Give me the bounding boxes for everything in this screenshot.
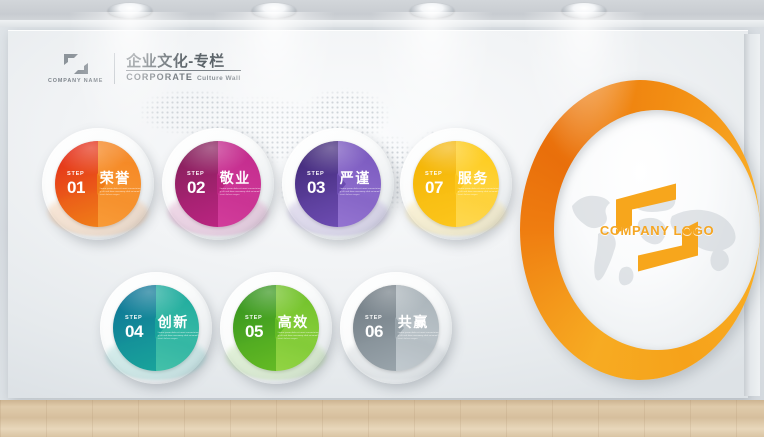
step-label-cn: 严谨 (340, 171, 371, 185)
step-word-label: STEP (187, 172, 204, 178)
step-word-label: STEP (307, 172, 324, 178)
header-titles: 企业文化-专栏 CORPORATE Culture Wall (126, 54, 240, 83)
step-circle-reflection (346, 330, 446, 380)
step-label-cn: 高效 (278, 315, 309, 329)
step-word-label: STEP (125, 316, 142, 322)
step-label-cn: 共赢 (398, 315, 429, 329)
bracket-logo-icon (61, 52, 91, 76)
step-circle-reflection (106, 330, 206, 380)
page-title-en-sub: Culture Wall (197, 75, 241, 82)
logo-center: COMPANY LOGO (554, 110, 760, 350)
header: COMPANY NAME 企业文化-专栏 CORPORATE Culture W… (48, 52, 241, 84)
step-circle-reflection (168, 186, 268, 236)
step-circle-reflection (288, 186, 388, 236)
page-title-en: CORPORATE Culture Wall (126, 72, 240, 82)
ceiling-spotlight-4 (562, 3, 606, 18)
step-label-cn: 创新 (158, 315, 189, 329)
company-logo-label: COMPANY LOGO (600, 223, 714, 238)
header-divider (114, 53, 115, 84)
step-word-label: STEP (67, 172, 84, 178)
company-logo-zone: COMPANY LOGO (520, 80, 760, 380)
company-name-block: COMPANY NAME (48, 52, 103, 84)
ceiling-spotlight-1 (108, 3, 152, 18)
step-circle-reflection (226, 330, 326, 380)
step-word-label: STEP (425, 172, 442, 178)
step-label-cn: 敬业 (220, 171, 251, 185)
culture-wall-scene: COMPANY NAME 企业文化-专栏 CORPORATE Culture W… (0, 0, 764, 437)
ceiling-spotlight-2 (252, 3, 296, 18)
ceiling-spotlight-3 (410, 3, 454, 18)
step-label-cn: 荣誉 (100, 171, 131, 185)
page-title-cn: 企业文化-专栏 (126, 54, 240, 72)
step-word-label: STEP (245, 316, 262, 322)
step-circle-reflection (406, 186, 506, 236)
step-word-label: STEP (365, 316, 382, 322)
ceiling-lip (0, 20, 764, 27)
page-title-en-main: CORPORATE (126, 72, 193, 82)
company-name-label: COMPANY NAME (48, 78, 103, 84)
step-label-cn: 服务 (458, 171, 489, 185)
step-circle-reflection (48, 186, 148, 236)
wooden-floor (0, 400, 764, 437)
